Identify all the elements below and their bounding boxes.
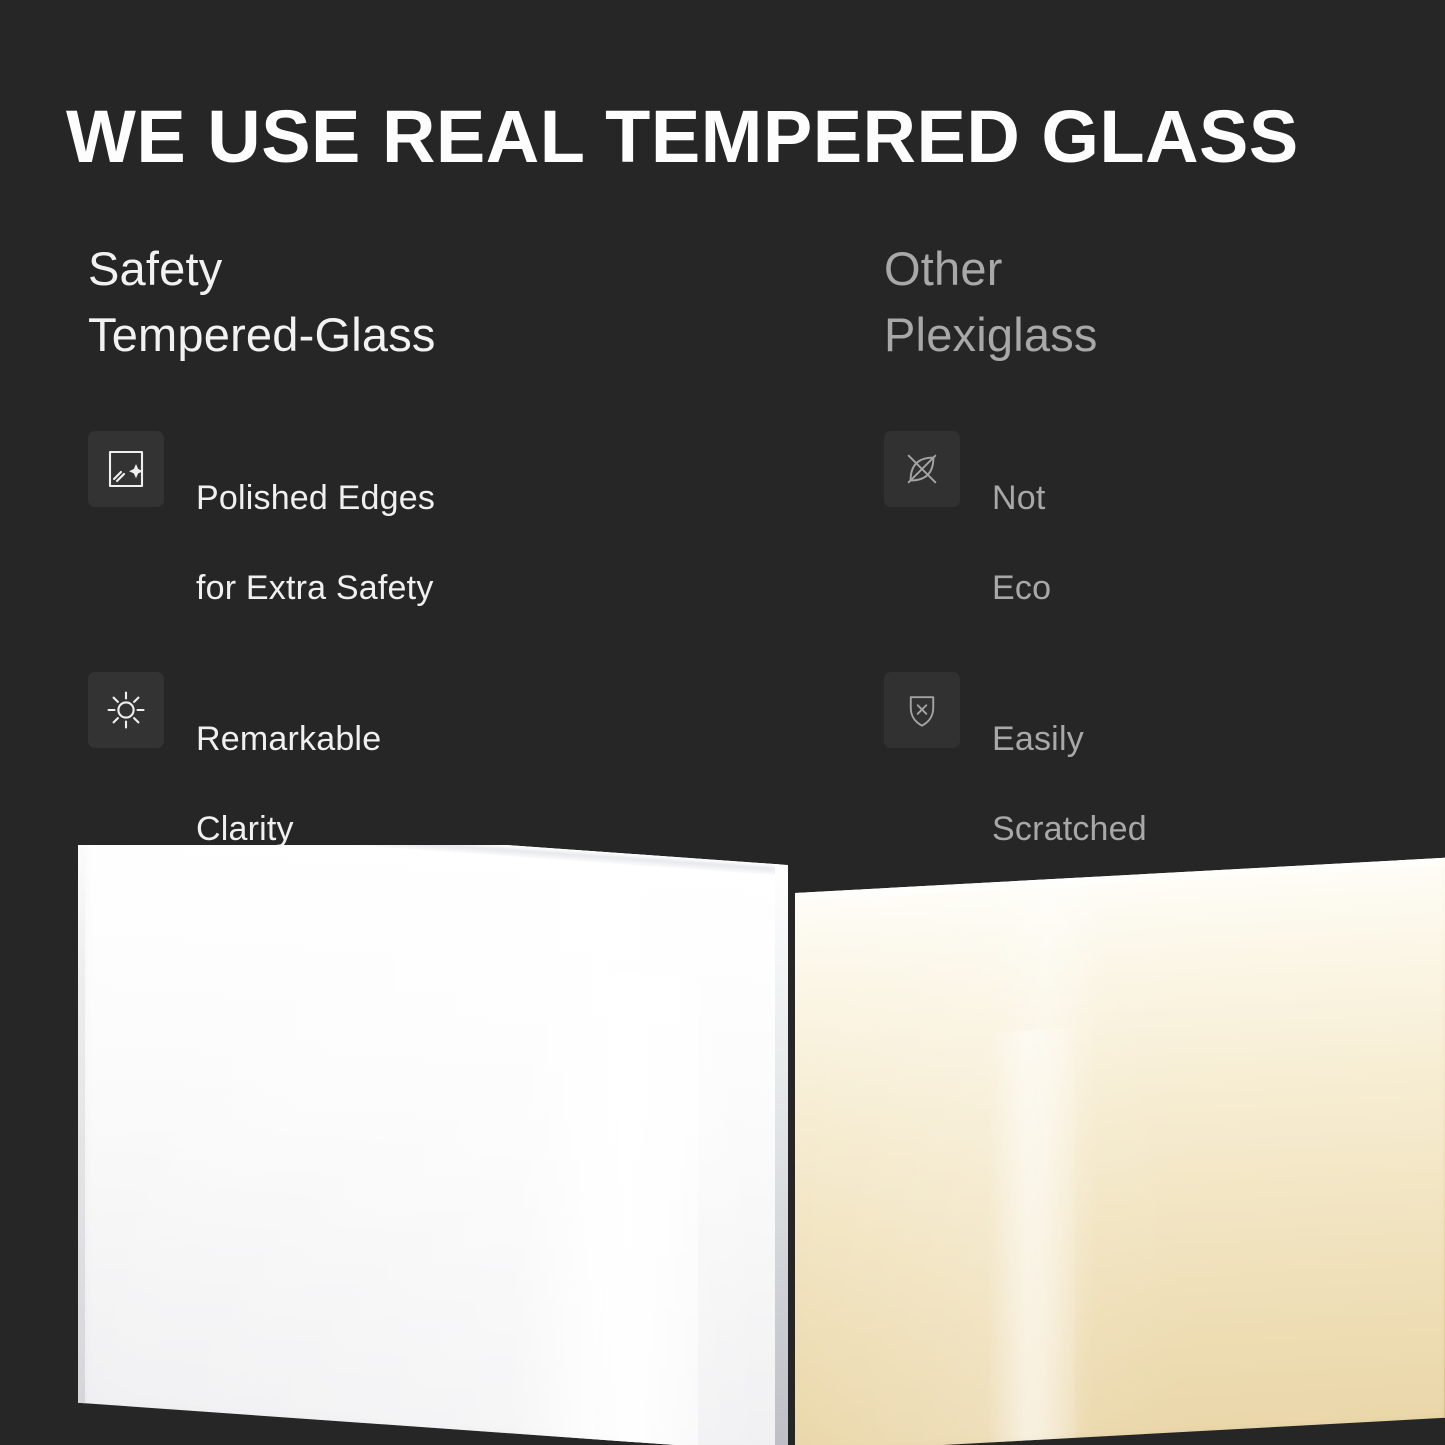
- column-heading-right-line2: Plexiglass: [884, 302, 1444, 368]
- product-photo: [0, 845, 1445, 1445]
- feature-item-remarkable-clarity: Remarkable Clarity: [88, 670, 788, 852]
- feature-label-polished-edges: Polished Edges for Extra Safety: [196, 429, 435, 611]
- column-heading-left: Safety Tempered-Glass: [88, 236, 788, 368]
- tempered-glass-left-edge: [78, 845, 85, 1403]
- plexiglass-panel: [795, 857, 1445, 1445]
- feature-item-easily-scratched: Easily Scratched: [884, 670, 1444, 852]
- polished-panel-sparkle-icon: [88, 431, 164, 507]
- tempered-glass-top-edge: [78, 845, 788, 876]
- tempered-glass-reflection: [578, 970, 698, 1445]
- feature-item-polished-edges: Polished Edges for Extra Safety: [88, 429, 788, 611]
- feature-label-remarkable-clarity: Remarkable Clarity: [196, 670, 381, 852]
- column-heading-right-line1: Other: [884, 236, 1444, 302]
- page-title: WE USE REAL TEMPERED GLASS: [66, 94, 1396, 180]
- tempered-glass-right-edge: [775, 864, 788, 1445]
- plexiglass-reflection: [987, 1028, 1075, 1443]
- column-heading-left-line2: Tempered-Glass: [88, 302, 788, 368]
- feature-label-easily-scratched: Easily Scratched: [992, 670, 1147, 852]
- column-heading-left-line1: Safety: [88, 236, 788, 302]
- feature-label-line2: Eco: [992, 569, 1051, 607]
- feature-label-line1: Polished Edges: [196, 479, 435, 517]
- leaf-slash-icon: [884, 431, 960, 507]
- feature-label-line1: Not: [992, 479, 1046, 517]
- column-heading-right: Other Plexiglass: [884, 236, 1444, 368]
- shield-x-icon: [884, 672, 960, 748]
- feature-label-not-eco: Not Eco: [992, 429, 1051, 611]
- feature-item-not-eco: Not Eco: [884, 429, 1444, 611]
- sun-clarity-icon: [88, 672, 164, 748]
- feature-label-line2: Clarity: [196, 810, 294, 848]
- feature-label-line2: Scratched: [992, 810, 1147, 848]
- infographic-page: WE USE REAL TEMPERED GLASS Safety Temper…: [0, 0, 1445, 1445]
- plexiglass-top-edge: [795, 857, 1445, 902]
- feature-label-line2: for Extra Safety: [196, 569, 434, 607]
- tempered-glass-panel: [78, 845, 788, 1445]
- feature-label-line1: Easily: [992, 720, 1084, 758]
- feature-label-line1: Remarkable: [196, 720, 381, 758]
